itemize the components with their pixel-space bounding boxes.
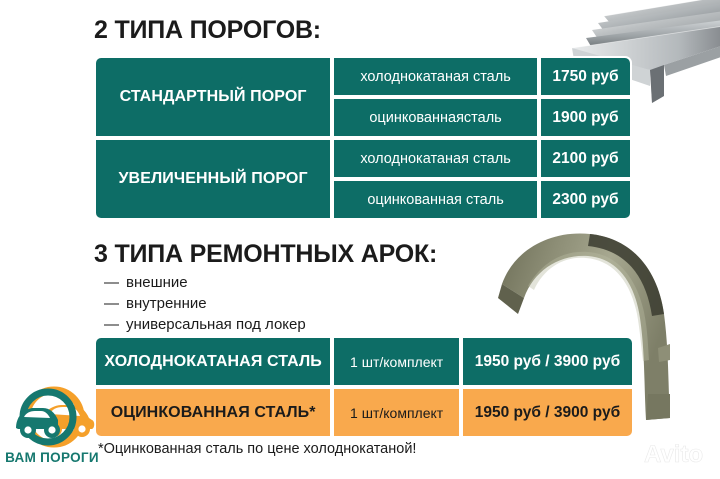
- sill-price: 2100 руб: [539, 138, 632, 179]
- sill-material: оцинкованнаясталь: [332, 97, 539, 138]
- list-item: — универсальная под локер: [104, 314, 306, 335]
- dash-icon: —: [104, 293, 119, 314]
- table-row: СТАНДАРТНЫЙ ПОРОГ холоднокатаная сталь 1…: [94, 56, 632, 97]
- arch-quantity: 1 шт/комплект: [332, 387, 461, 438]
- arch-price: 1950 руб / 3900 руб: [461, 336, 634, 387]
- footnote-text: *Оцинкованная сталь по цене холоднокатан…: [98, 441, 416, 457]
- arch-types-list: — внешние — внутренние — универсальная п…: [104, 272, 306, 335]
- list-item: — внутренние: [104, 293, 306, 314]
- page-title-sills: 2 ТИПА ПОРОГОВ:: [94, 16, 321, 45]
- list-item-label: универсальная под локер: [126, 314, 306, 335]
- table-row: ХОЛОДНОКАТАНАЯ СТАЛЬ 1 шт/комплект 1950 …: [94, 336, 634, 387]
- arches-price-table: ХОЛОДНОКАТАНАЯ СТАЛЬ 1 шт/комплект 1950 …: [94, 336, 634, 438]
- svg-text:ВАМ ПОРОГИ: ВАМ ПОРОГИ: [6, 450, 98, 465]
- arch-quantity: 1 шт/комплект: [332, 336, 461, 387]
- svg-text:Avito: Avito: [644, 441, 703, 468]
- sill-material: оцинкованная сталь: [332, 179, 539, 220]
- sills-price-table: СТАНДАРТНЫЙ ПОРОГ холоднокатаная сталь 1…: [94, 56, 632, 220]
- table-row: УВЕЛИЧЕННЫЙ ПОРОГ холоднокатаная сталь 2…: [94, 138, 632, 179]
- avito-watermark: Avito: [612, 438, 716, 468]
- dash-icon: —: [104, 272, 119, 293]
- table-row: ОЦИНКОВАННАЯ СТАЛЬ* 1 шт/комплект 1950 р…: [94, 387, 634, 438]
- sill-price: 1750 руб: [539, 56, 632, 97]
- arch-material: ОЦИНКОВАННАЯ СТАЛЬ*: [94, 387, 332, 438]
- sill-type-name: СТАНДАРТНЫЙ ПОРОГ: [94, 56, 332, 138]
- list-item: — внешние: [104, 272, 306, 293]
- page-title-arches: 3 ТИПА РЕМОНТНЫХ АРОК:: [94, 240, 437, 269]
- list-item-label: внутренние: [126, 293, 207, 314]
- promo-banner: 2 ТИПА ПОРОГОВ: СТАНДАРТНЫЙ ПОРОГ холодн…: [0, 0, 720, 479]
- sill-material: холоднокатаная сталь: [332, 56, 539, 97]
- sill-price: 2300 руб: [539, 179, 632, 220]
- brand-logo: ВАМ ПОРОГИ: [6, 384, 98, 472]
- list-item-label: внешние: [126, 272, 188, 293]
- sill-type-name: УВЕЛИЧЕННЫЙ ПОРОГ: [94, 138, 332, 220]
- dash-icon: —: [104, 314, 119, 335]
- sill-material: холоднокатаная сталь: [332, 138, 539, 179]
- arch-material: ХОЛОДНОКАТАНАЯ СТАЛЬ: [94, 336, 332, 387]
- arch-price: 1950 руб / 3900 руб: [461, 387, 634, 438]
- sill-price: 1900 руб: [539, 97, 632, 138]
